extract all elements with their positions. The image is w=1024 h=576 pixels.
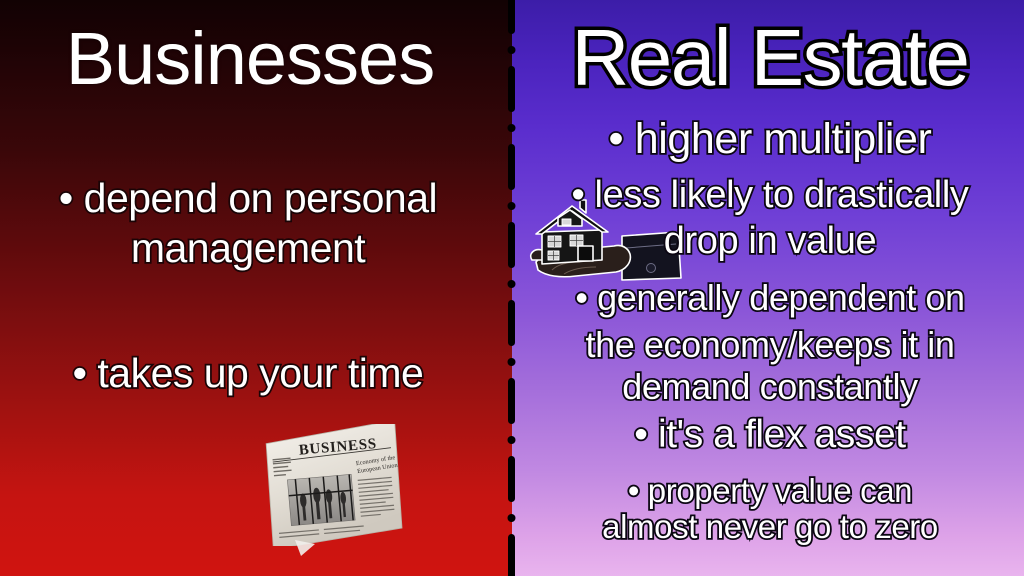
right-bullet-2-line-1: • less likely to drastically <box>518 176 1022 214</box>
right-bullet-5-line-1: • property value can <box>518 474 1022 507</box>
comparison-slide: BUSINESS Economy of the European Union <box>0 0 1024 576</box>
left-bullet-2-line-1: • takes up your time <box>0 353 496 394</box>
cursor-arrow-mark <box>295 540 321 556</box>
right-panel-title: Real Estate <box>516 18 1024 98</box>
left-panel-title: Businesses <box>0 22 500 96</box>
panel-divider <box>506 0 517 576</box>
right-bullet-4-line-1: • it's a flex asset <box>518 415 1022 454</box>
left-bullet-1-line-1: • depend on personal <box>0 178 496 219</box>
newspaper-business-image: BUSINESS Economy of the European Union <box>258 424 406 546</box>
right-bullet-5-line-2: almost never go to zero <box>518 510 1022 543</box>
right-bullet-3-line-3: demand constantly <box>518 369 1022 405</box>
right-bullet-3-line-1: • generally dependent on <box>518 280 1022 316</box>
right-bullet-2-line-2: drop in value <box>518 222 1022 260</box>
right-bullet-1-line-1: • higher multiplier <box>518 118 1022 161</box>
right-bullet-3-line-2: the economy/keeps it in <box>518 327 1022 363</box>
left-bullet-1-line-2: management <box>0 228 496 269</box>
